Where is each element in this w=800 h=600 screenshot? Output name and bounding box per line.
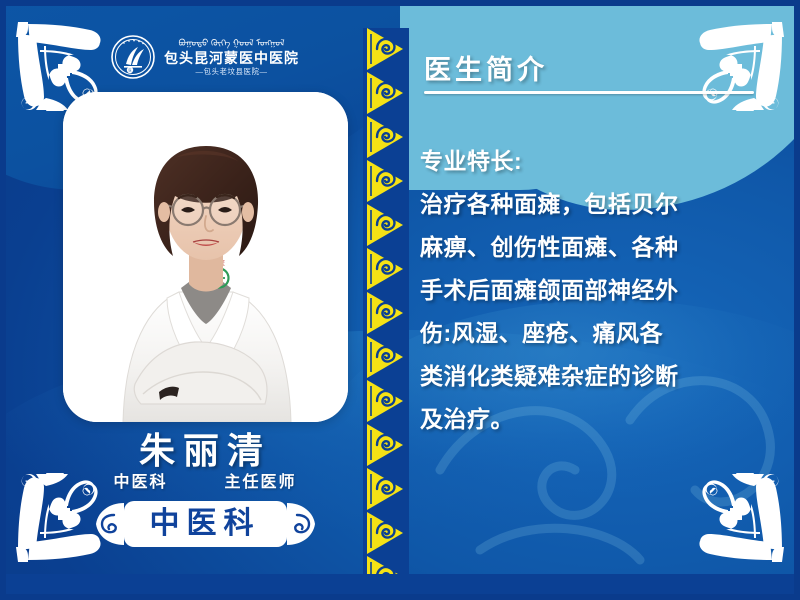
- doctor-department: 中医科: [114, 468, 168, 492]
- corner-ornament-bottom-right: [690, 468, 794, 572]
- department-badge: 中医科: [94, 498, 317, 550]
- profile-line-3: 手术后面瘫颌面部神经外: [420, 269, 776, 312]
- doctor-meta: 中医科 主任医师: [0, 468, 410, 492]
- section-title: 医生简介: [424, 48, 548, 87]
- section-title-rule: [424, 91, 754, 94]
- department-badge-wrap: 中医科: [0, 498, 410, 550]
- profile-line-5: 类消化类疑难杂症的诊断: [420, 355, 776, 398]
- bottom-bar: [0, 574, 800, 600]
- corner-ornament-top-right: [690, 12, 794, 116]
- doctor-portrait-illustration: 蒙医: [63, 92, 348, 422]
- profile-line-6: 及治疗。: [420, 398, 776, 441]
- profile-line-4: 伤:风湿、座疮、痛风各: [420, 312, 776, 355]
- badge-plate: 中医科: [124, 501, 287, 547]
- badge-scroll-left-icon: [94, 501, 124, 547]
- doctor-name: 朱丽清: [0, 422, 410, 474]
- profile-body: 专业特长: 治疗各种面瘫，包括贝尔 麻痹、创伤性面瘫、各种 手术后面瘫颌面部神经…: [420, 140, 776, 441]
- hospital-logo-text: ᠪᠤᠭᠤᠲᠤ ᠬᠥᠬᠡ ᠭᠣᠣᠯ ᠮᠣᠩᠭᠣᠯ 包头昆河蒙医中医院 —包头老坟县…: [164, 38, 299, 77]
- doctor-title: 主任医师: [224, 468, 296, 492]
- hospital-logo: 医 ᠪᠤᠭᠤᠲᠤ ᠬᠥᠬᠡ ᠭᠣᠣᠯ ᠮᠣᠩᠭᠣᠯ 包头昆河蒙医中医院 —包头老…: [110, 34, 299, 80]
- hospital-subtitle-cn: —包头老坟县医院—: [196, 67, 268, 77]
- mongolian-pattern-divider: [363, 28, 409, 576]
- department-badge-label: 中医科: [150, 507, 261, 541]
- hospital-emblem-icon: 医: [110, 34, 156, 80]
- svg-text:医: 医: [128, 68, 131, 72]
- hospital-mongolian-script: ᠪᠤᠭᠤᠲᠤ ᠬᠥᠬᠡ ᠭᠣᠣᠯ ᠮᠣᠩᠭᠣᠯ: [178, 38, 284, 49]
- doctor-photo-card: 蒙医: [63, 92, 348, 422]
- hospital-name-cn: 包头昆河蒙医中医院: [164, 50, 299, 66]
- doctor-profile-poster: 医 ᠪᠤᠭᠤᠲᠤ ᠬᠥᠬᠡ ᠭᠣᠣᠯ ᠮᠣᠩᠭᠣᠯ 包头昆河蒙医中医院 —包头老…: [0, 0, 800, 600]
- badge-scroll-right-icon: [287, 501, 317, 547]
- profile-line-1: 治疗各种面瘫，包括贝尔: [420, 183, 776, 226]
- profile-lead: 专业特长:: [420, 140, 776, 183]
- profile-line-2: 麻痹、创伤性面瘫、各种: [420, 226, 776, 269]
